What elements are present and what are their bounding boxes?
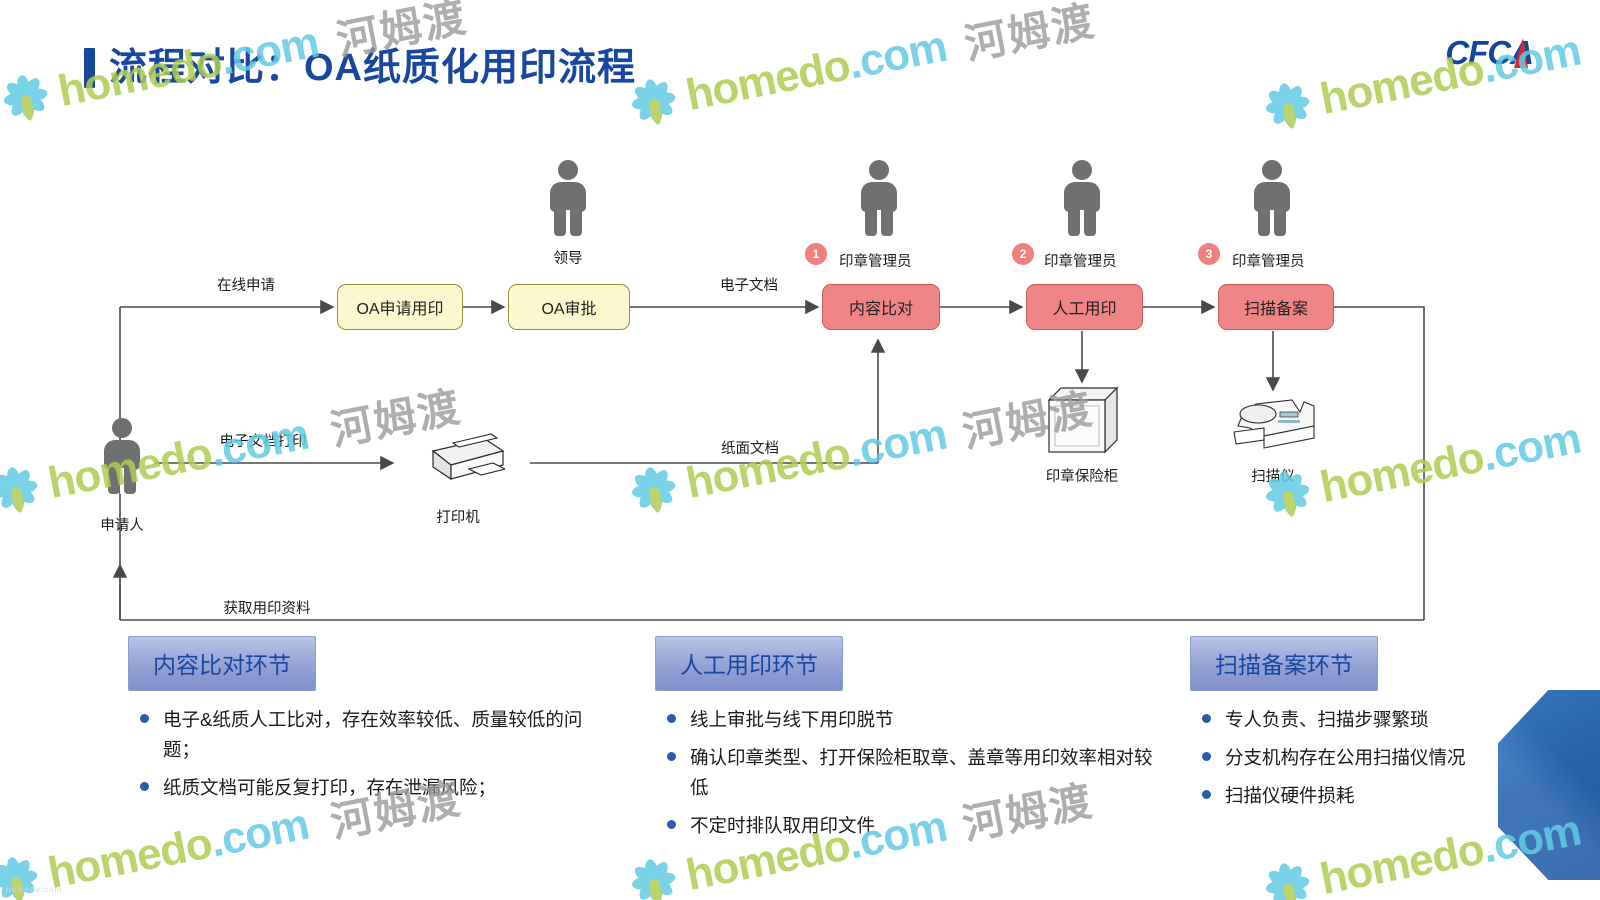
section-heading: 扫描备案环节 — [1190, 636, 1378, 691]
section-bullets: 专人负责、扫描步骤繁琐 分支机构存在公用扫描仪情况 扫描仪硬件损耗 — [1190, 705, 1580, 811]
step-badge-1: 1 — [805, 243, 827, 265]
bullet-text: 扫描仪硬件损耗 — [1225, 781, 1355, 811]
device-label-scanner: 扫描仪 — [1251, 465, 1295, 486]
bullet-text: 确认印章类型、打开保险柜取章、盖章等用印效率相对较低 — [690, 743, 1155, 803]
section-scan-archive: 扫描备案环节 专人负责、扫描步骤繁琐 分支机构存在公用扫描仪情况 扫描仪硬件损耗 — [1190, 636, 1580, 819]
section-manual-seal: 人工用印环节 线上审批与线下用印脱节 确认印章类型、打开保险柜取章、盖章等用印效… — [655, 636, 1155, 849]
bullet-dot-icon — [1202, 752, 1211, 761]
person-icon-seal-admin-3 — [1249, 160, 1295, 234]
list-item: 专人负责、扫描步骤繁琐 — [1190, 705, 1580, 735]
device-label-printer: 打印机 — [436, 506, 480, 527]
bullet-dot-icon — [140, 714, 149, 723]
edge-label-fetch-materials: 获取用印资料 — [224, 597, 311, 618]
list-item: 分支机构存在公用扫描仪情况 — [1190, 743, 1580, 773]
actor-label-seal-admin-1: 印章管理员 — [839, 250, 912, 271]
edge-label-print-e-doc: 电子文档打印 — [220, 430, 307, 451]
node-manual-seal[interactable]: 人工用印 — [1026, 284, 1143, 330]
person-icon-applicant — [99, 418, 145, 492]
list-item: 确认印章类型、打开保险柜取章、盖章等用印效率相对较低 — [655, 743, 1155, 803]
bullet-text: 线上审批与线下用印脱节 — [690, 705, 894, 735]
section-heading: 人工用印环节 — [655, 636, 843, 691]
actor-label-leader: 领导 — [554, 247, 583, 268]
bullet-dot-icon — [667, 820, 676, 829]
edge-label-online-apply: 在线申请 — [217, 274, 275, 295]
step-badge-2: 2 — [1012, 243, 1034, 265]
edge-label-paper-doc: 纸面文档 — [721, 437, 779, 458]
person-icon-seal-admin-1 — [856, 160, 902, 234]
flow-diagram: 领导 1 印章管理员 2 印章管理员 3 印章管理员 申请人 OA申请用印 OA… — [0, 0, 1600, 660]
actor-label-applicant: 申请人 — [100, 514, 144, 535]
edge-label-e-doc: 电子文档 — [720, 274, 778, 295]
bullet-dot-icon — [1202, 790, 1211, 799]
section-heading: 内容比对环节 — [128, 636, 316, 691]
bullet-dot-icon — [140, 782, 149, 791]
watermark-tiny-text: homedo.com — [6, 885, 62, 894]
device-label-safe-cabinet: 印章保险柜 — [1046, 465, 1119, 486]
bullet-text: 纸质文档可能反复打印，存在泄漏风险； — [163, 773, 496, 803]
actor-label-seal-admin-2: 印章管理员 — [1044, 250, 1117, 271]
bullet-text: 电子&纸质人工比对，存在效率较低、质量较低的问题； — [163, 705, 608, 765]
node-oa-approval[interactable]: OA审批 — [508, 284, 630, 330]
flow-connectors — [0, 0, 1600, 660]
bullet-dot-icon — [1202, 714, 1211, 723]
node-content-compare[interactable]: 内容比对 — [822, 284, 940, 330]
bullet-text: 专人负责、扫描步骤繁琐 — [1225, 705, 1429, 735]
list-item: 不定时排队取用印文件 — [655, 811, 1155, 841]
list-item: 线上审批与线下用印脱节 — [655, 705, 1155, 735]
person-icon-leader — [545, 160, 591, 234]
list-item: 电子&纸质人工比对，存在效率较低、质量较低的问题； — [128, 705, 608, 765]
bullet-text: 分支机构存在公用扫描仪情况 — [1225, 743, 1466, 773]
issue-sections: 内容比对环节 电子&纸质人工比对，存在效率较低、质量较低的问题； 纸质文档可能反… — [0, 636, 1600, 900]
list-item: 纸质文档可能反复打印，存在泄漏风险； — [128, 773, 608, 803]
node-scan-archive[interactable]: 扫描备案 — [1218, 284, 1334, 330]
step-badge-3: 3 — [1198, 243, 1220, 265]
section-bullets: 线上审批与线下用印脱节 确认印章类型、打开保险柜取章、盖章等用印效率相对较低 不… — [655, 705, 1155, 841]
bullet-dot-icon — [667, 752, 676, 761]
bullet-text: 不定时排队取用印文件 — [690, 811, 875, 841]
list-item: 扫描仪硬件损耗 — [1190, 781, 1580, 811]
node-oa-apply[interactable]: OA申请用印 — [337, 284, 463, 330]
actor-label-seal-admin-3: 印章管理员 — [1232, 250, 1305, 271]
person-icon-seal-admin-2 — [1059, 160, 1105, 234]
section-bullets: 电子&纸质人工比对，存在效率较低、质量较低的问题； 纸质文档可能反复打印，存在泄… — [128, 705, 608, 803]
bullet-dot-icon — [667, 714, 676, 723]
section-content-compare: 内容比对环节 电子&纸质人工比对，存在效率较低、质量较低的问题； 纸质文档可能反… — [128, 636, 608, 811]
slide-root: 流程对比：OA纸质化用印流程 CFCA — [0, 0, 1600, 900]
